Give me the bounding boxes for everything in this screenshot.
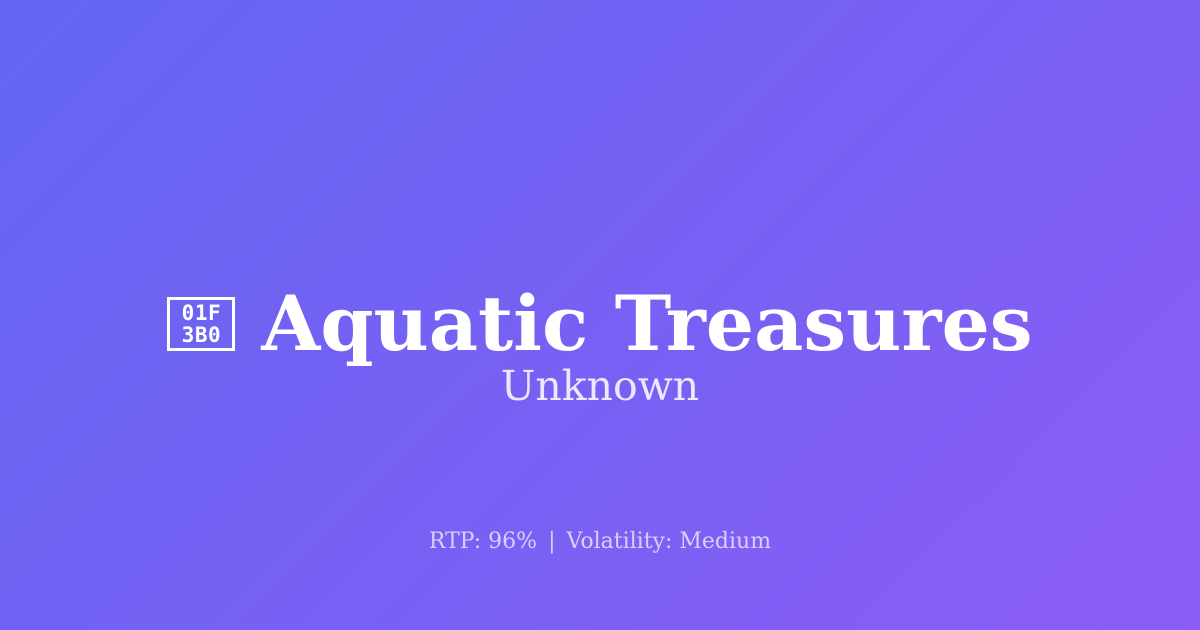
slot-machine-icon-hex-low: 3B0 — [182, 324, 221, 346]
game-stats-line: RTP: 96% | Volatility: Medium — [0, 527, 1200, 557]
page-title: Aquatic Treasures — [261, 283, 1032, 365]
rtp-stat: RTP: 96% — [429, 529, 537, 554]
stats-separator: | — [544, 529, 559, 554]
volatility-stat: Volatility: Medium — [567, 529, 772, 554]
provider-label: Unknown — [0, 362, 1200, 410]
slot-machine-icon-hex-high: 01F — [182, 302, 221, 324]
slot-machine-icon: 01F 3B0 — [167, 297, 235, 351]
game-preview-card: 01F 3B0 Aquatic Treasures Unknown RTP: 9… — [0, 0, 1200, 630]
